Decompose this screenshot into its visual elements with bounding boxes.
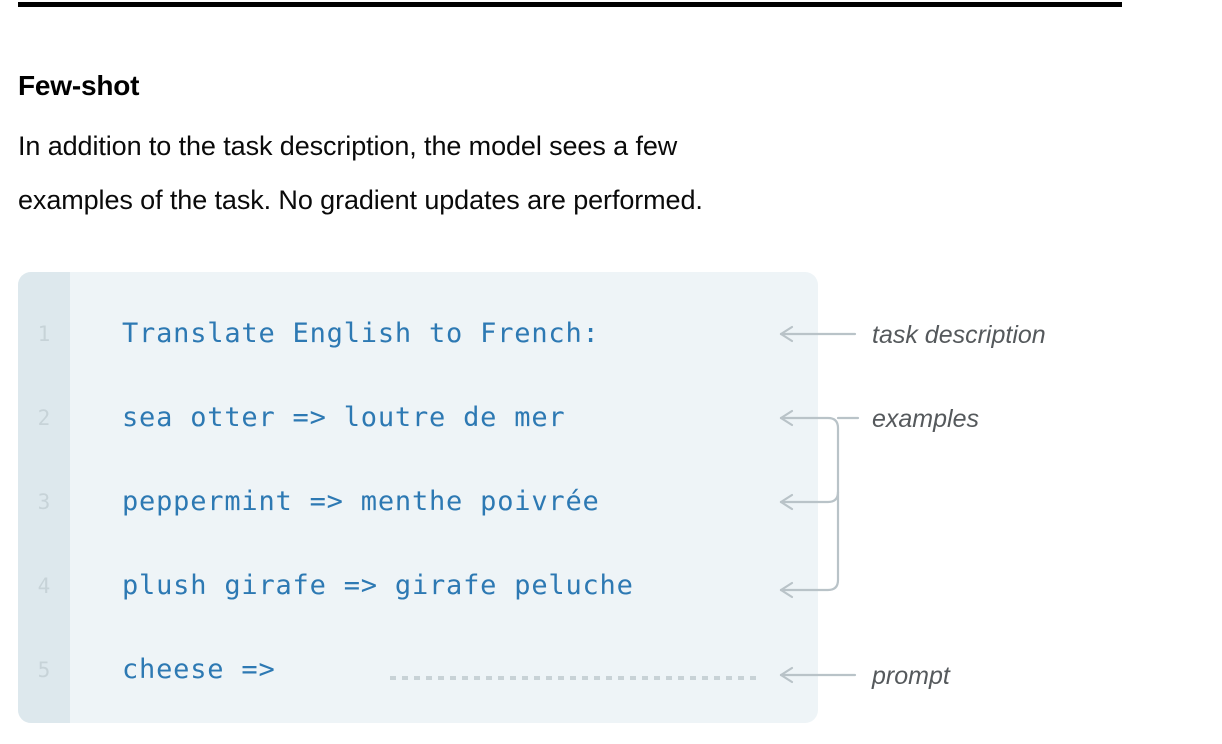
annotation-label-task-description: task description <box>872 320 1046 350</box>
code-line-text-3: peppermint => menthe poivrée <box>122 484 600 520</box>
page-root: Few-shot In addition to the task descrip… <box>0 0 1222 744</box>
line-number-5: 5 <box>18 652 70 688</box>
section-description: In addition to the task description, the… <box>18 119 1008 227</box>
line-number-2: 2 <box>18 400 70 436</box>
completion-blank-dotted-line <box>390 676 758 680</box>
code-line-text-5: cheese => <box>122 652 276 688</box>
code-line-2: 2 sea otter => loutre de mer <box>18 400 818 436</box>
line-number-1: 1 <box>18 316 70 352</box>
line-number-4: 4 <box>18 568 70 604</box>
code-line-text-4: plush girafe => girafe peluche <box>122 568 634 604</box>
description-line-2: examples of the task. No gradient update… <box>18 173 1008 227</box>
code-line-4: 4 plush girafe => girafe peluche <box>18 568 818 604</box>
annotation-label-prompt: prompt <box>872 661 950 691</box>
line-number-3: 3 <box>18 484 70 520</box>
code-line-text-1: Translate English to French: <box>122 316 600 352</box>
annotation-label-examples: examples <box>872 404 979 434</box>
description-line-1: In addition to the task description, the… <box>18 119 1008 173</box>
code-line-5: 5 cheese => <box>18 652 818 688</box>
code-block[interactable]: 1 Translate English to French: 2 sea ott… <box>18 272 818 723</box>
code-line-3: 3 peppermint => menthe poivrée <box>18 484 818 520</box>
page-title: Few-shot <box>18 69 139 103</box>
top-divider-rule <box>18 2 1122 7</box>
code-line-text-2: sea otter => loutre de mer <box>122 400 565 436</box>
code-lines: 1 Translate English to French: 2 sea ott… <box>18 272 818 723</box>
code-line-1: 1 Translate English to French: <box>18 316 818 352</box>
